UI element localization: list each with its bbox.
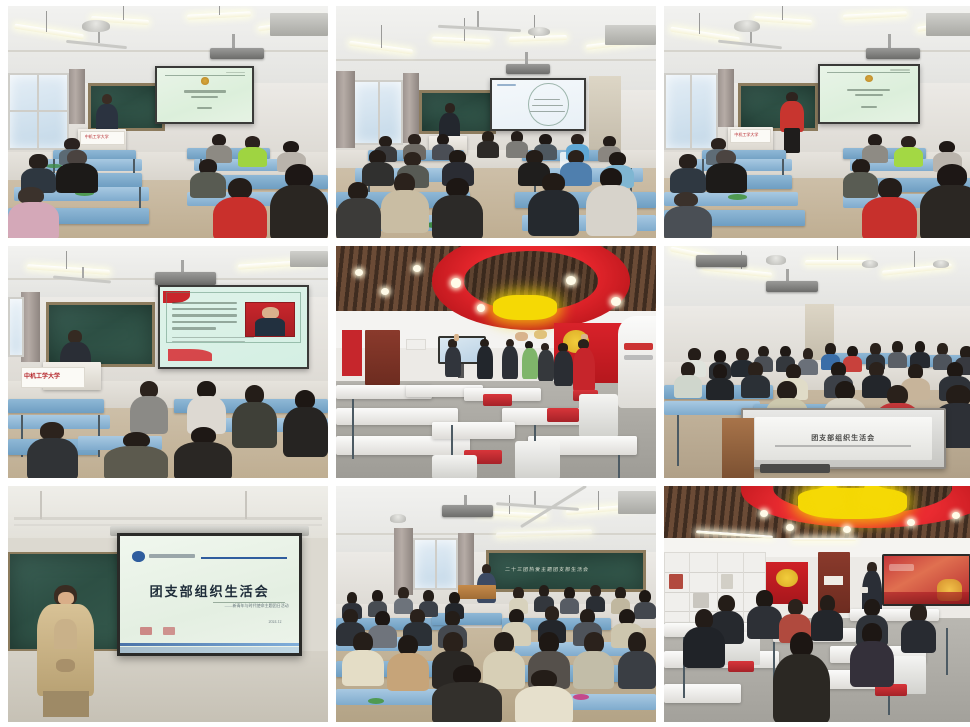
- slide-footer-date: 2024.12: [210, 619, 282, 624]
- projection-screen-main: 团支部组织生活会 ——新青年与时代使命主题团日活动 2024.12: [117, 533, 303, 656]
- portrait-photo: [245, 302, 295, 337]
- person-standing-attendee: [445, 334, 461, 376]
- photo-cell-top-right[interactable]: 中机工学大学: [664, 6, 970, 238]
- person-standing-attendee: [554, 339, 573, 385]
- air-conditioner-icon: [270, 13, 328, 36]
- podium-banner-text: 中机工学大学: [85, 134, 109, 140]
- podium-display-text: 团支部组织生活会: [743, 433, 944, 443]
- person-standing-speaker: [94, 94, 120, 133]
- slide-logo-text: [149, 554, 196, 559]
- person-standing-attendee: [538, 339, 554, 381]
- photo-cell-middle-center[interactable]: [336, 246, 656, 478]
- air-conditioner-icon: [605, 25, 656, 46]
- projection-screen: [155, 66, 254, 124]
- slide-main-title: 团支部组织生活会: [120, 581, 300, 600]
- projector-icon: [155, 272, 216, 286]
- projector-icon: [866, 48, 920, 60]
- podium-banner-text: 中机工学大学: [24, 371, 60, 380]
- person-standing-attendee: [477, 334, 493, 378]
- person-standing-attendee-red: [573, 334, 595, 392]
- slide-subtitle: ——新青年与时代使命主题团日活动: [163, 603, 289, 609]
- slide-logo-icon: [132, 551, 145, 562]
- air-conditioner-icon: [618, 491, 656, 515]
- party-emblem-light: [493, 295, 557, 321]
- window: [8, 297, 24, 357]
- projector-icon: [442, 505, 493, 517]
- air-conditioner-icon: [926, 13, 970, 36]
- door: [365, 330, 400, 386]
- podium-banner-text: 中机工学大学: [734, 132, 758, 138]
- photo-cell-middle-left[interactable]: 中机工学大学: [8, 246, 328, 478]
- projection-screen: [490, 78, 586, 131]
- blackboard-chalk-text: 二十三团热爱主题团支部生活会: [504, 566, 589, 573]
- projection-screen: [818, 64, 920, 124]
- projector-icon: [210, 48, 264, 60]
- blackboard: 二十三团热爱主题团支部生活会: [486, 550, 646, 592]
- photo-cell-bottom-left[interactable]: 团支部组织生活会 ——新青年与时代使命主题团日活动 2024.12: [8, 486, 328, 722]
- person-standing-speaker: [37, 585, 95, 717]
- projector-icon: [696, 255, 747, 267]
- blackboard: [738, 83, 818, 132]
- projector-icon: [506, 64, 551, 74]
- photo-cell-middle-right[interactable]: 团支部组织生活会: [664, 246, 970, 478]
- person-standing-speaker: [779, 92, 805, 152]
- projector-icon: [766, 281, 817, 293]
- person-standing-attendee: [522, 336, 538, 378]
- photo-cell-top-left[interactable]: 中机工学大学: [8, 6, 328, 238]
- photo-cell-bottom-center[interactable]: 二十三团热爱主题团支部生活会: [336, 486, 656, 722]
- person-standing-attendee: [502, 334, 518, 378]
- photo-collage-grid: 中机工学大学: [0, 0, 970, 727]
- projection-screen-portrait-slide: [158, 285, 308, 369]
- photo-cell-top-center[interactable]: [336, 6, 656, 238]
- photo-cell-bottom-right[interactable]: [664, 486, 970, 722]
- display-screen: [882, 554, 970, 606]
- podium-display[interactable]: 团支部组织生活会: [741, 408, 946, 468]
- air-conditioner-icon: [290, 251, 328, 267]
